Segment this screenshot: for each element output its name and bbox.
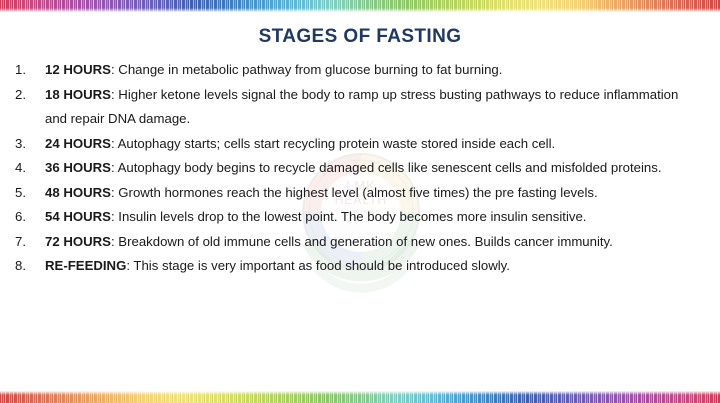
list-item-text: This stage is very important as food sho… bbox=[133, 258, 510, 273]
list-item-lead: 18 HOURS bbox=[45, 87, 111, 102]
stages-list: 1. 12 HOURS: Change in metabolic pathway… bbox=[0, 49, 720, 279]
list-item-body: 48 HOURS: Growth hormones reach the high… bbox=[45, 181, 702, 206]
list-item-number: 6. bbox=[14, 205, 45, 230]
list-item-text: Change in metabolic pathway from glucose… bbox=[118, 62, 502, 77]
list-item-text: Autophagy starts; cells start recycling … bbox=[118, 136, 556, 151]
list-item-separator: : bbox=[111, 160, 118, 175]
bottom-rainbow-border bbox=[0, 391, 720, 403]
list-item-lead: 72 HOURS bbox=[45, 234, 111, 249]
list-item-separator: : bbox=[111, 136, 118, 151]
bottom-border-fade bbox=[0, 391, 720, 395]
list-item-body: 72 HOURS: Breakdown of old immune cells … bbox=[45, 230, 702, 255]
list-item-number: 2. bbox=[14, 83, 45, 108]
list-item-number: 3. bbox=[14, 132, 45, 157]
list-item-text: Higher ketone levels signal the body to … bbox=[45, 87, 678, 127]
list-item: 6. 54 HOURS: Insulin levels drop to the … bbox=[14, 205, 702, 230]
list-item: 5. 48 HOURS: Growth hormones reach the h… bbox=[14, 181, 702, 206]
list-item-number: 5. bbox=[14, 181, 45, 206]
page-title: STAGES OF FASTING bbox=[0, 0, 720, 49]
list-item-text: Growth hormones reach the highest level … bbox=[118, 185, 597, 200]
list-item-text: Autophagy body begins to recycle damaged… bbox=[118, 160, 662, 175]
list-item-number: 8. bbox=[14, 254, 45, 279]
list-item-body: 24 HOURS: Autophagy starts; cells start … bbox=[45, 132, 702, 157]
list-item-lead: 48 HOURS bbox=[45, 185, 111, 200]
list-item-body: 12 HOURS: Change in metabolic pathway fr… bbox=[45, 58, 702, 83]
list-item-body: 18 HOURS: Higher ketone levels signal th… bbox=[45, 83, 702, 132]
content-area: STAGES OF FASTING 1. 12 HOURS: Change in… bbox=[0, 0, 720, 279]
list-item: 3. 24 HOURS: Autophagy starts; cells sta… bbox=[14, 132, 702, 157]
list-item-text: Insulin levels drop to the lowest point.… bbox=[118, 209, 586, 224]
list-item-number: 7. bbox=[14, 230, 45, 255]
list-item: 7. 72 HOURS: Breakdown of old immune cel… bbox=[14, 230, 702, 255]
list-item-body: 54 HOURS: Insulin levels drop to the low… bbox=[45, 205, 702, 230]
list-item-lead: 12 HOURS bbox=[45, 62, 111, 77]
list-item-text: Breakdown of old immune cells and genera… bbox=[118, 234, 613, 249]
list-item-lead: RE-FEEDING bbox=[45, 258, 126, 273]
list-item-body: 36 HOURS: Autophagy body begins to recyc… bbox=[45, 156, 702, 181]
list-item: 4. 36 HOURS: Autophagy body begins to re… bbox=[14, 156, 702, 181]
list-item-number: 4. bbox=[14, 156, 45, 181]
list-item: 1. 12 HOURS: Change in metabolic pathway… bbox=[14, 58, 702, 83]
list-item: 8. RE-FEEDING: This stage is very import… bbox=[14, 254, 702, 279]
list-item-number: 1. bbox=[14, 58, 45, 83]
infographic-page: LMK HEALTH & WELLNESS STAGES OF FASTING … bbox=[0, 0, 720, 403]
list-item: 2. 18 HOURS: Higher ketone levels signal… bbox=[14, 83, 702, 132]
list-item-lead: 24 HOURS bbox=[45, 136, 111, 151]
list-item-lead: 54 HOURS bbox=[45, 209, 111, 224]
list-item-lead: 36 HOURS bbox=[45, 160, 111, 175]
list-item-body: RE-FEEDING: This stage is very important… bbox=[45, 254, 702, 279]
